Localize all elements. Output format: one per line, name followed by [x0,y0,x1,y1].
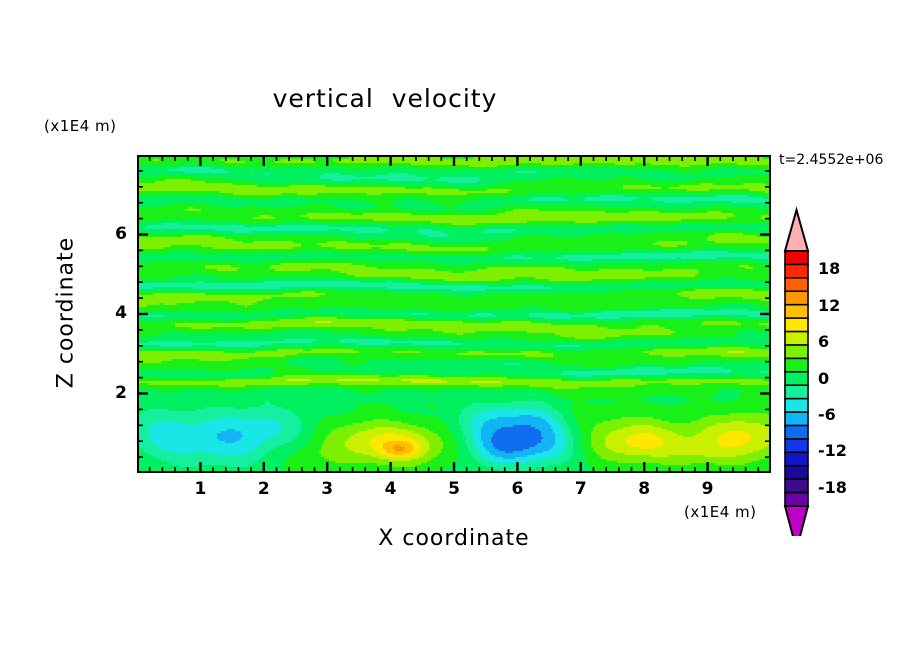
colorbar-tick-neg12: -12 [818,441,847,460]
page-title: vertical velocity [0,84,770,113]
x-tick-label-2: 2 [251,479,277,499]
y-axis-label: Z coordinate [54,223,79,403]
x-tick-label-5: 5 [441,479,467,499]
contour-plot-figure: vertical velocity (x1E4 m) t=2.4552e+06 … [0,0,904,654]
colorbar-tick-6: 6 [818,332,829,351]
contour-field [137,155,771,473]
x-tick-label-6: 6 [504,479,530,499]
colorbar-tick-neg18: -18 [818,478,847,497]
colorbar-tick-18: 18 [818,259,840,278]
colorbar-tick-neg6: -6 [818,405,836,424]
y-tick-label-2: 2 [101,383,127,403]
time-stamp-label: t=2.4552e+06 [779,152,883,168]
x-tick-label-8: 8 [631,479,657,499]
colorbar-tick-0: 0 [818,369,829,388]
colorbar-tick-12: 12 [818,296,840,315]
x-axis-unit-label: (x1E4 m) [684,503,757,521]
x-tick-label-1: 1 [187,479,213,499]
x-tick-label-3: 3 [314,479,340,499]
x-tick-label-9: 9 [695,479,721,499]
y-tick-label-4: 4 [101,303,127,323]
x-axis-label: X coordinate [137,526,771,551]
x-tick-label-4: 4 [378,479,404,499]
x-tick-label-7: 7 [568,479,594,499]
y-axis-unit-label: (x1E4 m) [44,117,117,135]
y-tick-label-6: 6 [101,224,127,244]
